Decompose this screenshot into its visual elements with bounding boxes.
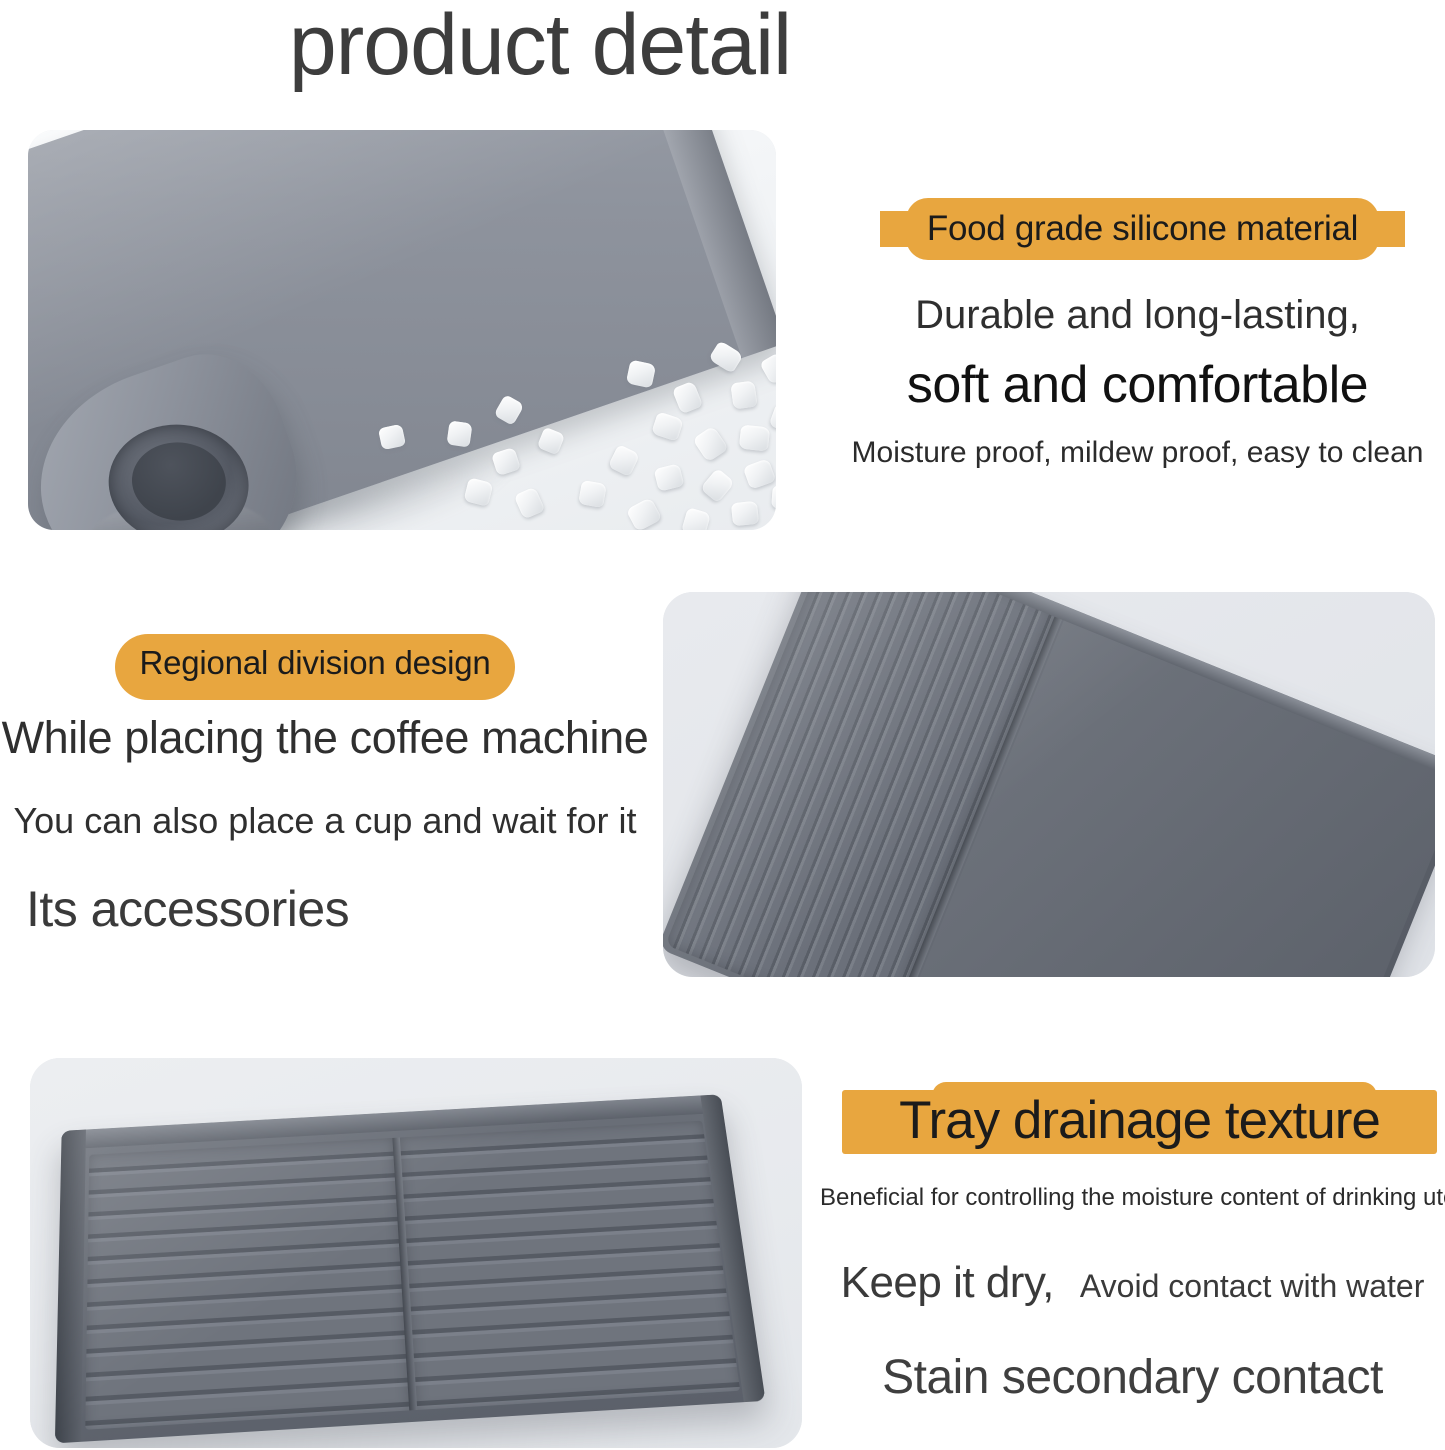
photo-2-scene [663, 592, 1435, 977]
text-block-tray-drainage-texture: Beneficial for controlling the moisture … [820, 1184, 1445, 1405]
silicone-pellet [446, 421, 472, 448]
badge-tray-drainage-texture: Tray drainage texture [842, 1082, 1437, 1154]
text-block-regional-division-design: While placing the coffee machine You can… [0, 712, 650, 939]
silicone-pellet [731, 501, 759, 527]
feature-line-moisture-proof: Moisture proof, mildew proof, easy to cl… [835, 436, 1440, 471]
feature-line-coffee-machine: While placing the coffee machine [0, 712, 650, 764]
feature-line-place-cup: You can also place a cup and wait for it [0, 800, 650, 841]
text-block-food-grade-silicone: Durable and long-lasting, soft and comfo… [835, 292, 1440, 470]
silicone-pellet [578, 480, 607, 508]
badge-label: Tray drainage texture [899, 1090, 1380, 1151]
badge-label: Regional division design [139, 644, 490, 682]
badge-regional-division-design: Regional division design [115, 634, 515, 700]
feature-line-accessories: Its accessories [0, 881, 650, 939]
feature-line-keep-dry: Keep it dry, [841, 1258, 1054, 1309]
photo-3-gloss-highlight [55, 1094, 766, 1443]
badge-label: Food grade silicone material [927, 209, 1358, 249]
product-photo-drainage-tray [30, 1058, 802, 1448]
photo-3-tray [55, 1094, 766, 1443]
feature-line-stain-secondary-contact: Stain secondary contact [820, 1350, 1445, 1405]
photo-3-scene [30, 1058, 802, 1448]
product-photo-rolled-mat [28, 130, 776, 530]
feature-line-durable: Durable and long-lasting, [835, 292, 1440, 338]
photo-1-scene [28, 130, 776, 530]
page-title: product detail [0, 0, 1080, 97]
badge-food-grade-silicone: Food grade silicone material [880, 198, 1405, 260]
product-photo-angled-mat [663, 592, 1435, 977]
feature-line-soft-comfortable: soft and comfortable [835, 356, 1440, 416]
silicone-pellet [730, 380, 757, 409]
feature-line-avoid-water: Avoid contact with water [1080, 1268, 1424, 1305]
silicone-pellet [739, 425, 770, 452]
feature-line-moisture-control: Beneficial for controlling the moisture … [820, 1184, 1445, 1212]
feature-row-keep-dry: Keep it dry, Avoid contact with water [820, 1258, 1445, 1309]
